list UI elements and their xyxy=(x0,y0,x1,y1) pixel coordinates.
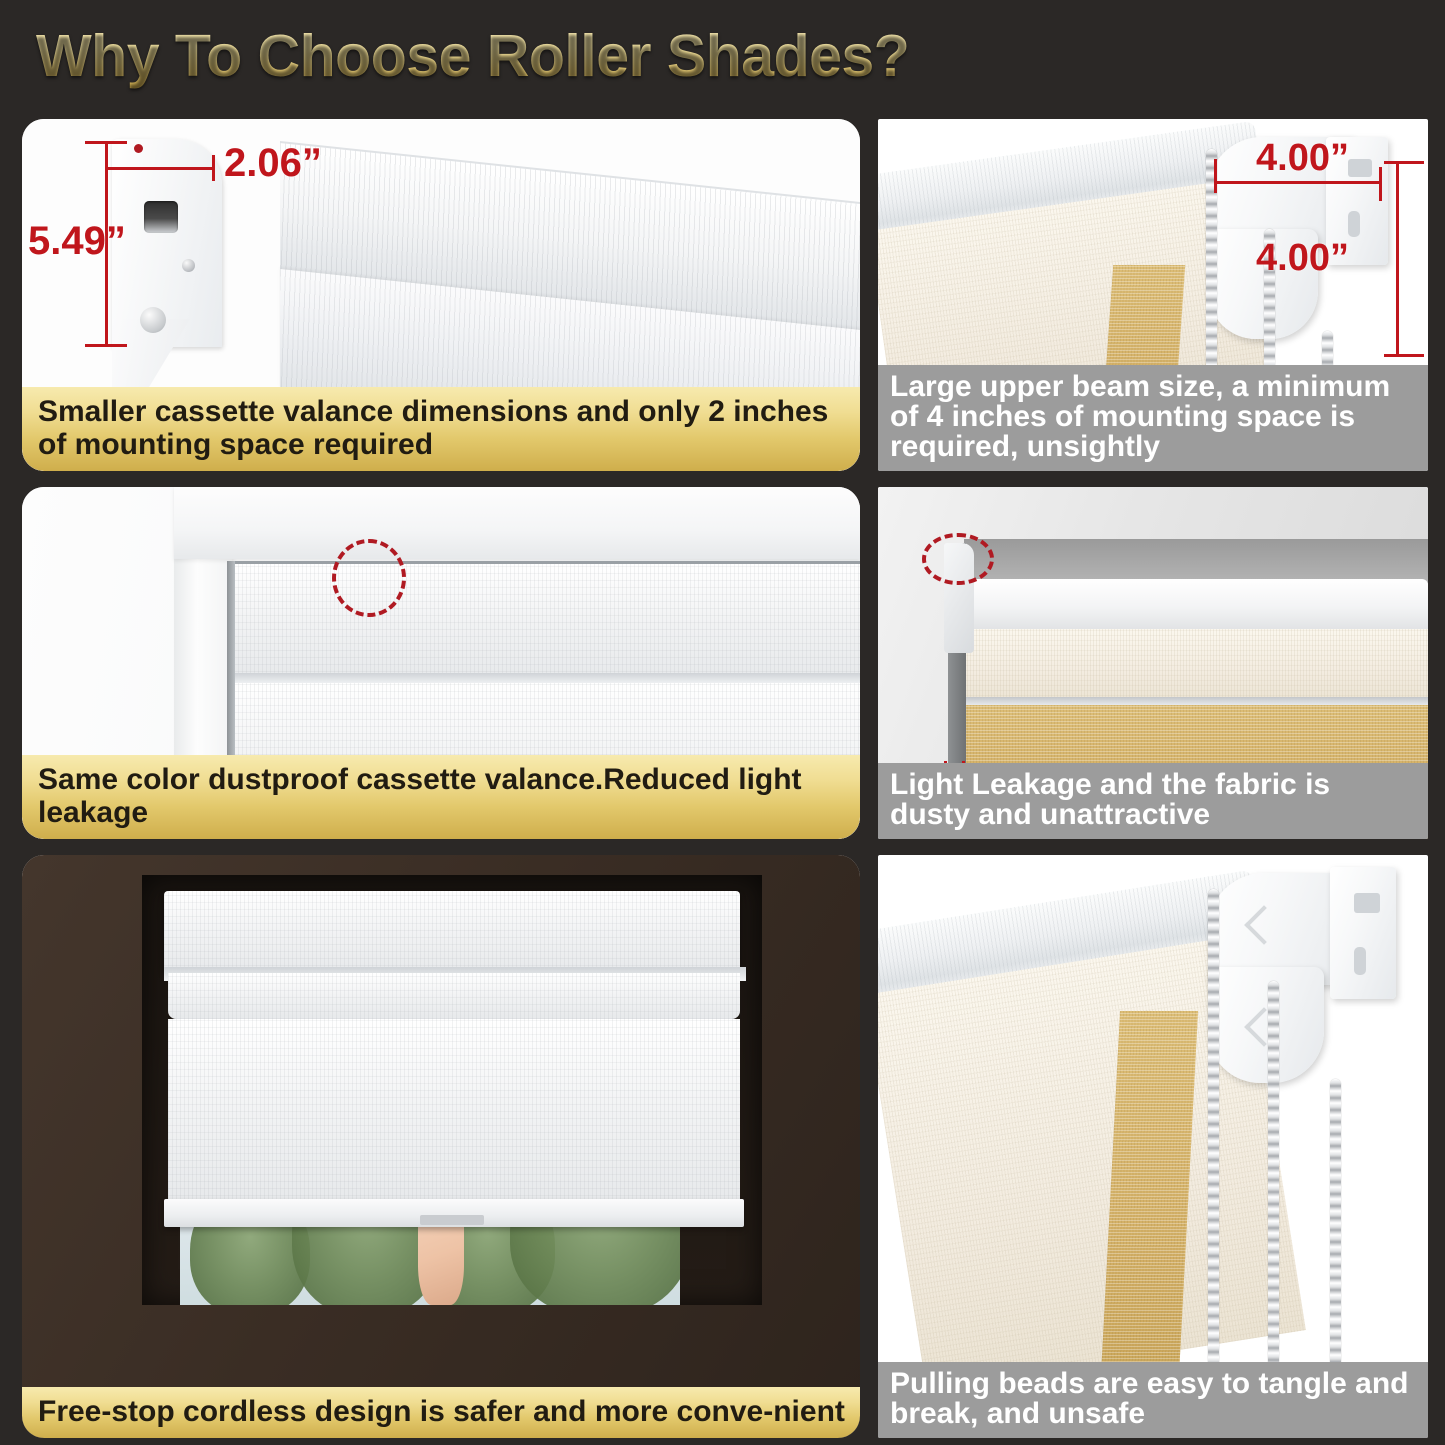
highlight-circle xyxy=(332,539,406,617)
beam-height-tick-bottom xyxy=(1384,354,1424,357)
bead-chain xyxy=(1268,981,1279,1395)
beam-height-dimension-line xyxy=(1396,161,1399,357)
bracket-keyhole-icon xyxy=(1354,893,1380,913)
cassette-valance xyxy=(234,561,860,679)
height-dim-tick-top xyxy=(85,141,127,144)
beam-width-tick-left xyxy=(1214,159,1217,193)
ceiling-shadow xyxy=(964,539,1428,583)
panel-1-caption: Smaller cassette valance dimensions and … xyxy=(22,387,860,471)
panel-6-caption: Pulling beads are easy to tangle and bre… xyxy=(878,1362,1428,1438)
beam-width-tick-right xyxy=(1379,167,1382,201)
shade-fabric xyxy=(168,1019,740,1203)
bead-chain xyxy=(1330,1079,1341,1395)
width-dimension-line xyxy=(105,167,215,170)
beam-height-tick-top xyxy=(1384,161,1424,164)
height-dim-tick-bottom xyxy=(85,344,127,347)
screw-icon xyxy=(182,259,195,272)
roller-tube-white xyxy=(964,579,1428,635)
panel-smaller-cassette: 5.49” 2.06” Smaller cassette valance dim… xyxy=(22,119,860,471)
bead-chain xyxy=(1208,889,1219,1395)
width-dim-tick-right xyxy=(212,155,215,181)
panel-2-caption: Large upper beam size, a minimum of 4 in… xyxy=(878,365,1428,471)
height-dimension-label: 5.49” xyxy=(28,219,126,264)
page-title: Why To Choose Roller Shades? xyxy=(36,22,909,90)
panel-cordless-design: Free-stop cordless design is safer and m… xyxy=(22,855,860,1438)
screw-icon xyxy=(140,307,166,333)
valance-bottom-edge xyxy=(234,673,860,683)
panel-5-photo xyxy=(22,855,860,1438)
panel-4-caption: Light Leakage and the fabric is dusty an… xyxy=(878,763,1428,839)
beam-height-label: 4.00” xyxy=(1256,237,1349,280)
width-dimension-label: 2.06” xyxy=(224,141,322,186)
page-header: Why To Choose Roller Shades? xyxy=(0,0,1445,112)
cassette-valance xyxy=(164,891,740,973)
panel-3-caption: Same color dustproof cassette valance.Re… xyxy=(22,755,860,839)
panel-pulling-beads: Pulling beads are easy to tangle and bre… xyxy=(878,855,1428,1438)
window-frame-header xyxy=(174,487,860,559)
beam-width-label: 4.00” xyxy=(1256,137,1349,180)
panel-light-leakage: Large gap Light Leakage and the fabric i… xyxy=(878,487,1428,839)
comparison-grid: 5.49” 2.06” Smaller cassette valance dim… xyxy=(0,112,1445,1445)
panel-5-caption: Free-stop cordless design is safer and m… xyxy=(22,1387,860,1438)
bracket-wall-plate xyxy=(1330,867,1396,999)
panel-large-beam: 4.00” 4.00” Large upper beam size, a min… xyxy=(878,119,1428,471)
fabric-edge-line xyxy=(964,697,1428,705)
shade-fabric-cream xyxy=(964,629,1428,701)
bracket-keyhole-icon xyxy=(1348,211,1360,237)
valance-slot-icon xyxy=(144,201,178,233)
bracket-keyhole-icon xyxy=(1354,947,1366,975)
bracket-keyhole-icon xyxy=(1348,159,1372,177)
measure-point-icon xyxy=(134,144,143,153)
rail-grip-tab xyxy=(420,1215,484,1225)
panel-dustproof-valance: smaller gap Same color dustproof cassett… xyxy=(22,487,860,839)
panel-6-photo xyxy=(878,855,1428,1438)
shade-roll-front xyxy=(168,973,740,1019)
highlight-circle xyxy=(922,533,994,585)
beam-width-dimension-line xyxy=(1214,181,1382,184)
